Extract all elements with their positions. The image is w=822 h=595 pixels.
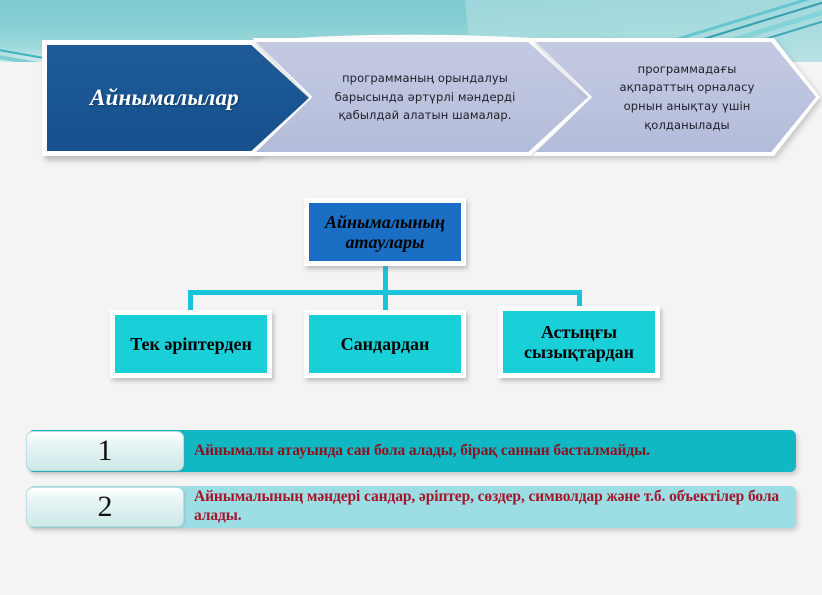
org-node-underscores-line2: сызықтардан (524, 342, 634, 362)
org-node-root-line2: атаулары (325, 232, 445, 252)
rule-text-1: Айнымалы атауында сан бола алады, бірақ … (184, 442, 796, 461)
org-node-underscores-inner: Астыңғы сызықтардан (503, 311, 655, 373)
rule-row-2[interactable]: 2 Айнымалының мәндері сандар, әріптер, с… (28, 486, 796, 528)
org-node-root[interactable]: Айнымалының атаулары (304, 198, 466, 266)
org-node-letters-line1: Тек әріптерден (130, 334, 252, 354)
org-node-digits-line1: Сандардан (341, 334, 430, 354)
definition-line-3: қабылдай алатын шамалар. (338, 106, 511, 125)
org-node-underscores-line1: Астыңғы (524, 322, 634, 342)
rule-row-1[interactable]: 1 Айнымалы атауында сан бола алады, біра… (28, 430, 796, 472)
org-node-root-inner: Айнымалының атаулары (309, 203, 461, 261)
rule-text-2: Айнымалының мәндері сандар, әріптер, сөз… (184, 488, 796, 525)
org-node-root-line1: Айнымалының (325, 212, 445, 232)
usage-line-1: программадағы (638, 60, 737, 79)
org-node-underscores[interactable]: Астыңғы сызықтардан (498, 306, 660, 378)
connector-branch-middle (383, 290, 388, 312)
org-node-digits-inner: Сандардан (309, 315, 461, 373)
definition-line-1: программаның орындалуы (342, 69, 508, 88)
slide-canvas: Айнымалылар программаның орындалуы барыс… (0, 0, 822, 595)
usage-line-2: ақпараттың орналасу (620, 78, 755, 97)
rule-badge-2: 2 (26, 487, 184, 527)
chevron-usage[interactable]: программадағы ақпараттың орналасу орнын … (532, 38, 820, 156)
definition-line-2: барысында әртүрлі мәндерді (335, 88, 516, 107)
rule-badge-1: 1 (26, 431, 184, 471)
usage-line-3: орнын анықтау үшін (624, 97, 751, 116)
org-node-letters[interactable]: Тек әріптерден (110, 310, 272, 378)
connector-root-vertical (383, 266, 388, 292)
org-node-digits[interactable]: Сандардан (304, 310, 466, 378)
rule-number-2: 2 (98, 492, 113, 522)
usage-line-4: қолданылады (644, 116, 729, 135)
connector-branch-left (188, 290, 193, 312)
org-node-letters-inner: Тек әріптерден (115, 315, 267, 373)
chevron-usage-text: программадағы ақпараттың орналасу орнын … (532, 38, 820, 156)
rule-number-1: 1 (98, 436, 113, 466)
